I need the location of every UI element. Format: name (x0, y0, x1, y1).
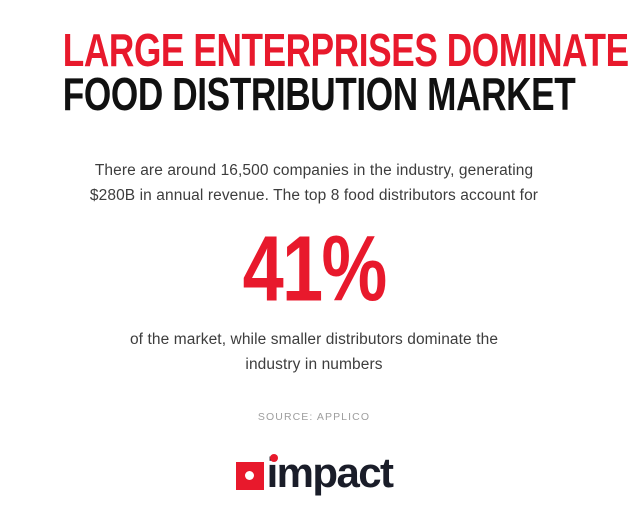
headline-line-1: LARGE ENTERPRISES DOMINATE THE (63, 29, 565, 74)
headline: LARGE ENTERPRISES DOMINATE THE FOOD DIST… (0, 30, 628, 116)
white-dot-icon (245, 471, 254, 480)
body-text-top: There are around 16,500 companies in the… (64, 158, 564, 208)
infographic-canvas: LARGE ENTERPRISES DOMINATE THE FOOD DIST… (0, 0, 628, 530)
logo-wordmark-text: impact (267, 449, 393, 496)
red-dot-icon (270, 454, 278, 462)
source-attribution: SOURCE: APPLICO (0, 411, 628, 423)
body-bottom-line-1: of the market, while smaller distributor… (84, 327, 544, 352)
body-top-line-2: $280B in annual revenue. The top 8 food … (64, 183, 564, 208)
body-bottom-line-2: industry in numbers (84, 352, 544, 377)
logo-wordmark: impact (267, 452, 393, 494)
stat-figure: 41% (0, 226, 628, 312)
stat-value: 41% (243, 223, 386, 316)
impact-logo: impact (0, 452, 628, 494)
headline-line-2: FOOD DISTRIBUTION MARKET (63, 72, 565, 117)
body-top-line-1: There are around 16,500 companies in the… (64, 158, 564, 183)
red-square-icon (236, 462, 264, 490)
body-text-bottom: of the market, while smaller distributor… (84, 327, 544, 377)
